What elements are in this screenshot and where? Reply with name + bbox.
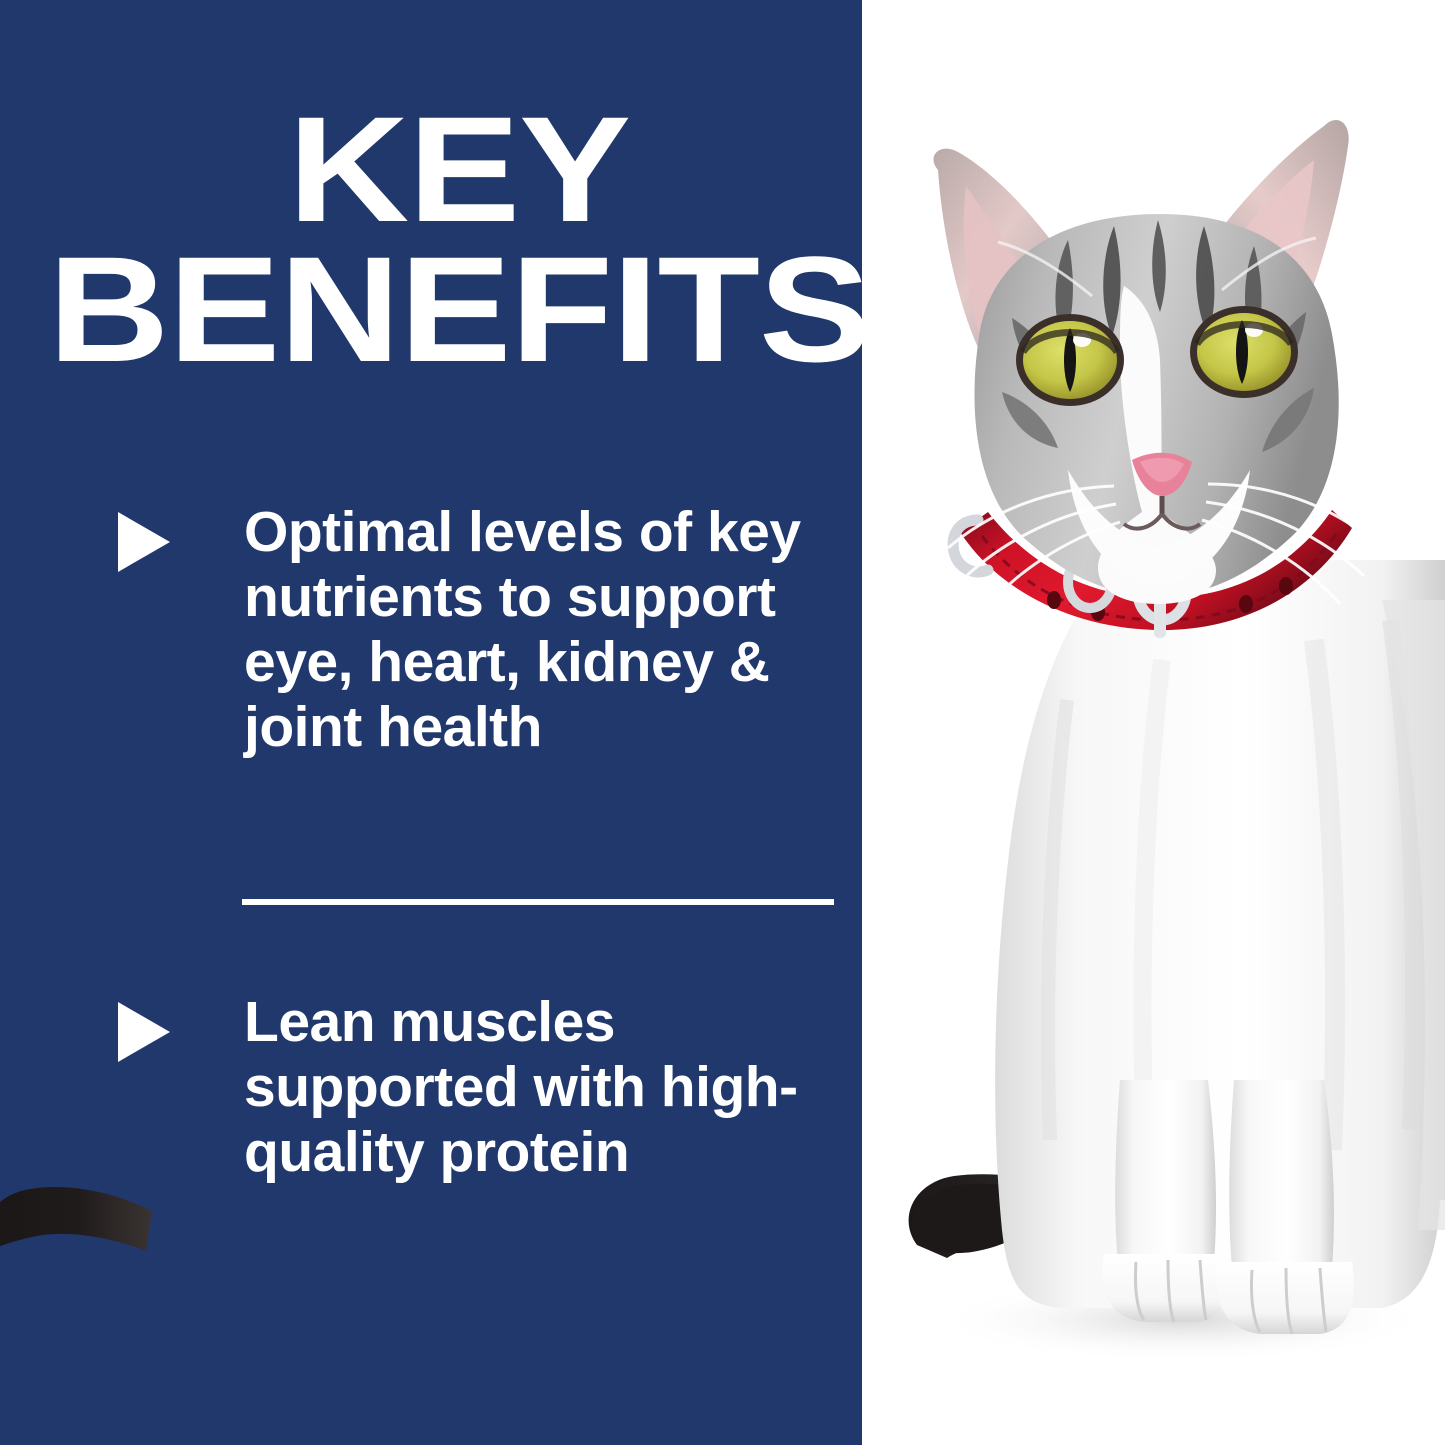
page-title: KEY BENEFITS	[0, 100, 973, 379]
cat-photo	[862, 0, 1445, 1445]
cat-eye-right	[1190, 306, 1298, 398]
cat-illustration	[862, 0, 1445, 1445]
cat-paw-left	[1102, 1254, 1230, 1322]
title-line-1: KEY	[0, 100, 973, 240]
triangle-right-icon	[118, 512, 170, 572]
benefit-item-2-text: Lean muscles supported with high-quality…	[244, 990, 878, 1185]
triangle-right-icon	[118, 1002, 170, 1062]
benefit-item-2: Lean muscles supported with high-quality…	[118, 990, 878, 1185]
benefit-item-1-text: Optimal levels of key nutrients to suppo…	[244, 500, 878, 760]
cat-paw-right	[1217, 1262, 1354, 1334]
cat-body	[995, 560, 1445, 1308]
title-line-2: BENEFITS	[0, 240, 973, 380]
cat-eye-left	[1016, 314, 1124, 406]
key-benefits-banner: KEY BENEFITS Optimal levels of key nutri…	[0, 0, 1445, 1445]
section-divider	[242, 899, 834, 905]
benefit-item-1: Optimal levels of key nutrients to suppo…	[118, 500, 878, 760]
navy-info-panel: KEY BENEFITS Optimal levels of key nutri…	[0, 0, 918, 1445]
